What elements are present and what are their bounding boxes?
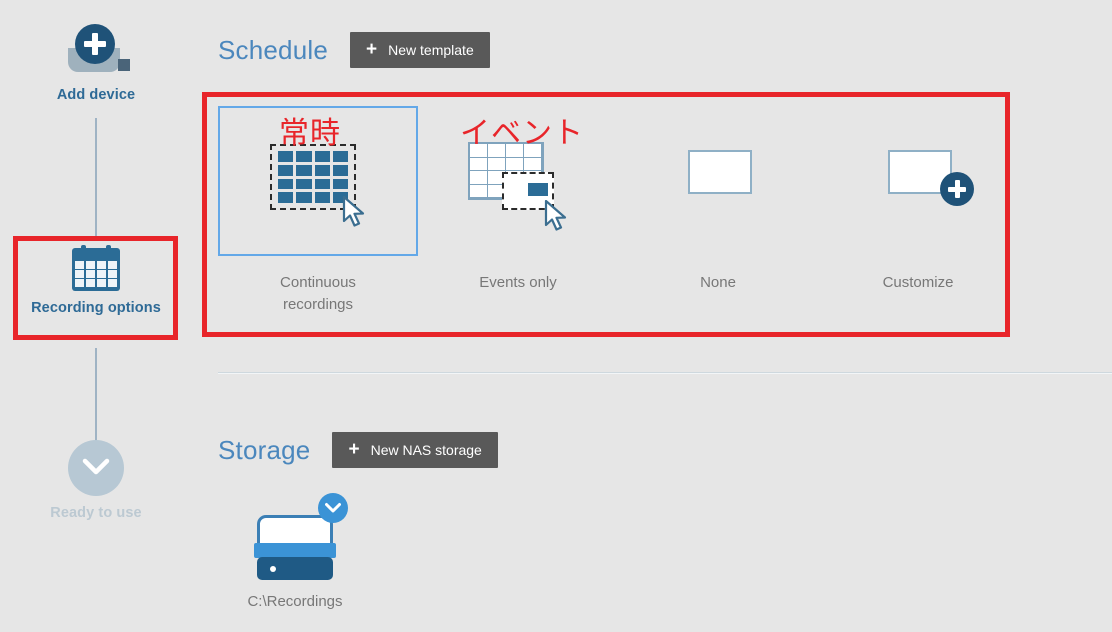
- new-nas-storage-button[interactable]: + New NAS storage: [332, 432, 497, 468]
- chevron-down-circle-icon: [68, 440, 124, 496]
- sidebar-item-ready-to-use[interactable]: Ready to use: [0, 440, 192, 521]
- filled-grid-selection-icon: [270, 144, 374, 230]
- schedule-section-header: Schedule + New template: [218, 32, 490, 68]
- disk-drive-icon: [252, 505, 338, 583]
- chevron-down-glyph: [82, 457, 110, 479]
- storage-item-local-recordings[interactable]: C:\Recordings: [225, 505, 365, 610]
- empty-rectangle-icon: [688, 150, 752, 194]
- new-nas-storage-button-label: New NAS storage: [371, 442, 482, 458]
- section-divider: [218, 372, 1112, 374]
- rail-connector-2: [95, 348, 97, 443]
- add-device-icon: [60, 22, 132, 78]
- option-label-none: None: [618, 272, 818, 294]
- new-template-button[interactable]: + New template: [350, 32, 490, 68]
- option-tile-none[interactable]: [618, 106, 818, 256]
- check-badge-icon: [318, 493, 348, 523]
- option-label-continuous-recordings: Continuous recordings: [218, 272, 418, 316]
- option-label-customize: Customize: [818, 272, 1018, 294]
- check-glyph: [325, 502, 341, 514]
- sidebar-item-recording-options[interactable]: Recording options: [0, 245, 192, 316]
- sidebar-item-label-add-device: Add device: [0, 87, 192, 103]
- plus-icon: +: [366, 40, 377, 59]
- option-label-events-only: Events only: [418, 272, 618, 294]
- option-tile-customize[interactable]: [818, 106, 1018, 256]
- page-title-schedule: Schedule: [218, 35, 328, 66]
- plus-icon: +: [348, 440, 359, 459]
- option-card-none[interactable]: None: [618, 106, 818, 294]
- page-title-storage: Storage: [218, 435, 310, 466]
- app-root: Add device Recording options: [0, 0, 1112, 632]
- plus-circle-icon: [940, 172, 974, 206]
- new-template-button-label: New template: [388, 42, 474, 58]
- option-card-customize[interactable]: Customize: [818, 106, 1018, 294]
- grid-event-selection-icon: [468, 142, 576, 232]
- sidebar-item-add-device[interactable]: Add device: [0, 22, 192, 103]
- mouse-cursor-icon: [342, 196, 368, 230]
- option-label-line2: recordings: [218, 294, 418, 316]
- storage-item-label: C:\Recordings: [225, 593, 365, 610]
- annotation-text-events: イベント: [460, 108, 584, 152]
- sidebar-item-label-ready-to-use: Ready to use: [0, 505, 192, 521]
- storage-section-header: Storage + New NAS storage: [218, 432, 498, 468]
- mouse-cursor-icon: [544, 200, 570, 234]
- option-label-line1: Continuous: [218, 272, 418, 294]
- sidebar-item-label-recording-options: Recording options: [0, 300, 192, 316]
- rail-connector-1: [95, 118, 97, 236]
- wizard-sidebar: Add device Recording options: [0, 0, 192, 632]
- annotation-text-continuous: 常時: [279, 108, 341, 152]
- calendar-icon: [70, 245, 122, 291]
